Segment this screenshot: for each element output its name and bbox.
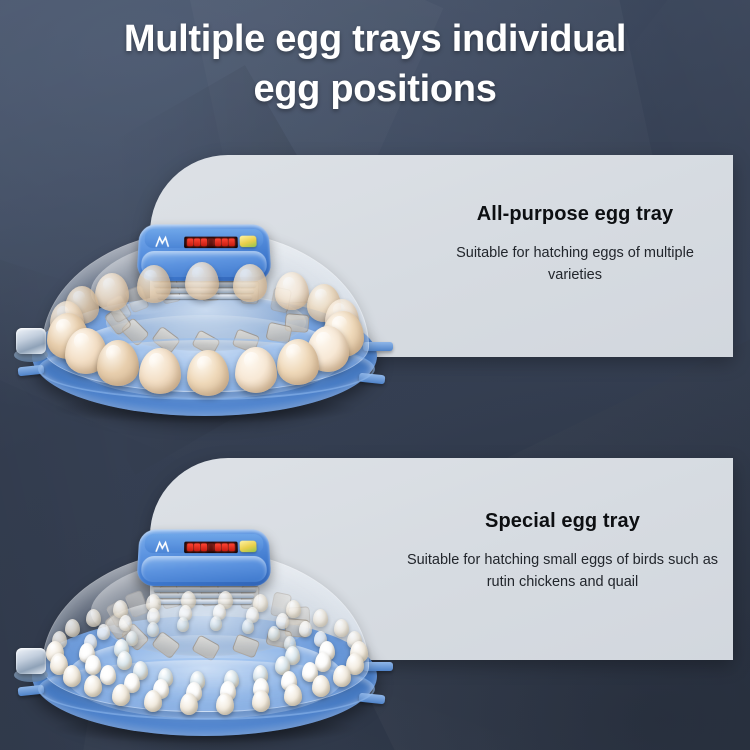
- card-body: Suitable for hatching eggs of multiple v…: [430, 242, 720, 286]
- incubator-render: [10, 215, 400, 430]
- led-segment: [201, 544, 207, 552]
- page-title: Multiple egg trays individual egg positi…: [0, 14, 750, 114]
- led-segment: [194, 239, 200, 247]
- brand-logo-icon: [154, 236, 170, 248]
- page-title-line1: Multiple egg trays individual: [0, 14, 750, 64]
- egg: [233, 264, 267, 302]
- infographic-stage: Multiple egg trays individual egg positi…: [0, 0, 750, 750]
- egg: [312, 675, 330, 697]
- indicator-light[interactable]: [239, 541, 256, 552]
- control-panel-body: [141, 556, 268, 582]
- led-segment: [215, 544, 221, 552]
- led-segment: [215, 239, 221, 247]
- egg: [242, 619, 254, 634]
- led-display: [184, 237, 238, 248]
- egg: [268, 626, 280, 641]
- egg: [180, 693, 198, 715]
- led-segment: [187, 544, 193, 552]
- egg: [334, 619, 349, 637]
- egg: [299, 621, 312, 637]
- product-image-special-incubator: [10, 520, 405, 750]
- egg: [84, 675, 102, 697]
- egg: [286, 600, 301, 618]
- led-segment: [208, 239, 214, 247]
- heater-fin: [154, 588, 256, 592]
- card-text-block: Special egg tray Suitable for hatching s…: [400, 510, 725, 593]
- led-segment: [229, 544, 235, 552]
- led-segment: [222, 239, 228, 247]
- indicator-light[interactable]: [239, 236, 256, 247]
- egg: [315, 652, 331, 672]
- egg: [97, 340, 139, 386]
- egg: [119, 615, 132, 631]
- product-image-all-purpose-incubator: [10, 215, 400, 430]
- card-heading: Special egg tray: [400, 510, 725, 533]
- egg: [65, 619, 80, 637]
- egg: [63, 665, 81, 687]
- led-segment: [229, 239, 235, 247]
- water-fill-port-icon: [16, 328, 46, 354]
- incubator-render: [10, 520, 405, 750]
- egg: [95, 273, 129, 311]
- control-panel-face: [144, 229, 264, 248]
- heater-fin: [158, 600, 252, 604]
- led-display: [184, 542, 238, 553]
- egg: [185, 262, 219, 300]
- led-segment: [208, 544, 214, 552]
- egg: [86, 609, 101, 627]
- egg: [85, 655, 101, 675]
- led-segment: [187, 239, 193, 247]
- egg: [210, 616, 222, 631]
- water-fill-port-icon: [16, 648, 46, 674]
- heater-fin: [156, 594, 254, 598]
- card-text-block: All-purpose egg tray Suitable for hatchi…: [430, 203, 720, 286]
- egg: [137, 265, 171, 303]
- egg: [277, 339, 319, 385]
- egg: [147, 622, 159, 637]
- led-segment: [194, 544, 200, 552]
- egg: [117, 651, 132, 670]
- egg: [276, 613, 289, 629]
- card-body: Suitable for hatching small eggs of bird…: [400, 549, 725, 593]
- brand-logo-icon: [154, 541, 170, 553]
- egg: [112, 684, 130, 706]
- egg: [252, 690, 270, 712]
- led-segment: [201, 239, 207, 247]
- egg: [177, 617, 189, 632]
- control-panel-housing: [136, 529, 271, 586]
- card-heading: All-purpose egg tray: [430, 203, 720, 226]
- page-title-line2: egg positions: [0, 64, 750, 114]
- egg: [144, 690, 162, 712]
- control-panel-face: [144, 534, 264, 553]
- led-segment: [222, 544, 228, 552]
- egg: [333, 665, 351, 687]
